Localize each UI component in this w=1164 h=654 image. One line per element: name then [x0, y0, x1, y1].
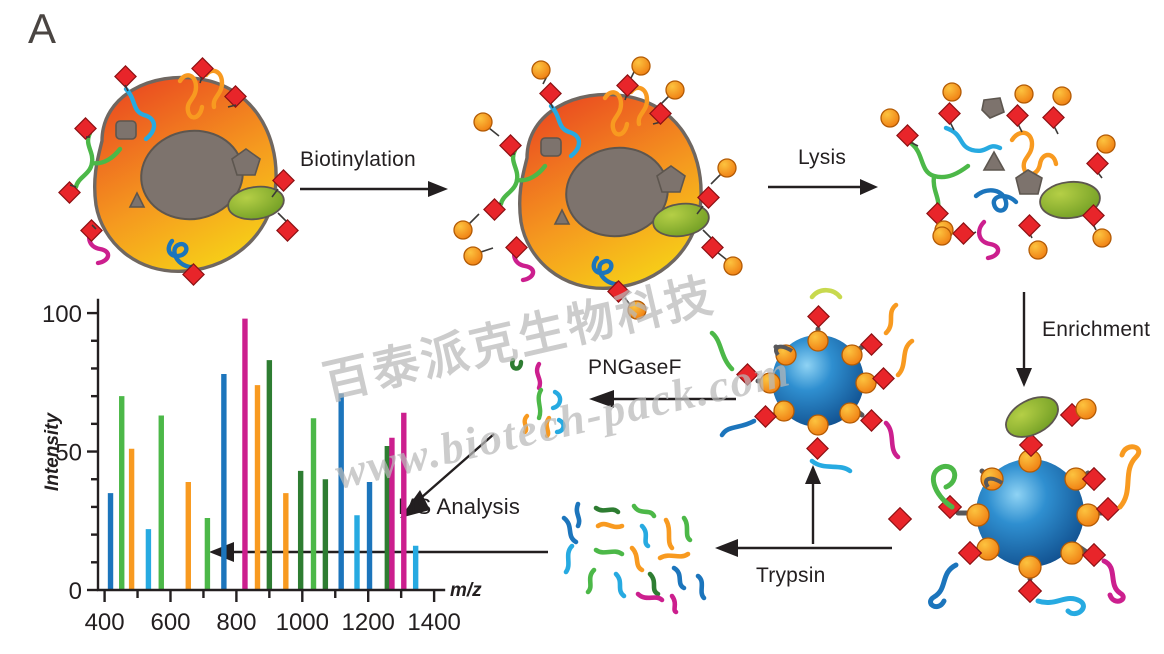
step-trypsin: Trypsin — [714, 536, 892, 588]
y-axis-title: Intensity — [42, 412, 63, 492]
organelle-pentagon — [1016, 170, 1042, 194]
arrow-head — [589, 390, 614, 408]
step-lysis: Lysis — [768, 146, 880, 200]
arrow-head — [1016, 368, 1032, 387]
step-label-trypsin: Trypsin — [756, 564, 892, 588]
released-glycopeptides — [505, 348, 585, 438]
arrow-head — [428, 181, 448, 197]
panel-label-a: A — [28, 8, 56, 50]
step-biotinylation: Biotinylation — [300, 148, 450, 202]
x-tick-label: 1400 — [407, 609, 460, 636]
step-label-lysis: Lysis — [768, 146, 876, 170]
step-label-biotinylation: Biotinylation — [300, 148, 450, 172]
x-axis-title: m/z — [450, 580, 482, 601]
x-tick-label: 600 — [150, 609, 190, 636]
x-tick-label: 400 — [85, 609, 125, 636]
lysate-proteins — [880, 78, 1160, 278]
step-pngasef: PNGaseF — [588, 356, 736, 412]
organelle-square — [541, 138, 561, 156]
x-tick-label: 1200 — [342, 609, 395, 636]
cell-biotinylated — [455, 62, 745, 312]
step-label-enrichment: Enrichment — [1042, 318, 1150, 342]
mass-spectrum-chart: 050100Intensity400600800100012001400m/z — [36, 284, 476, 644]
arrow-head — [860, 179, 878, 195]
biotin-circle — [1076, 399, 1096, 419]
peptide-pool — [548, 496, 738, 614]
x-tick-label: 1000 — [276, 609, 329, 636]
step-enrichment — [1010, 292, 1038, 388]
x-tick-label: 800 — [216, 609, 256, 636]
figure-canvas: A — [0, 0, 1164, 654]
organelle-triangle — [984, 152, 1004, 170]
cell-native — [40, 45, 310, 295]
y-tick-label: 100 — [42, 301, 82, 328]
organelle-square — [116, 121, 136, 139]
step-label-pngasef: PNGaseF — [588, 356, 736, 380]
organelle-square — [982, 98, 1004, 118]
y-tick-label: 0 — [69, 578, 82, 605]
bead-peptides — [700, 285, 950, 490]
